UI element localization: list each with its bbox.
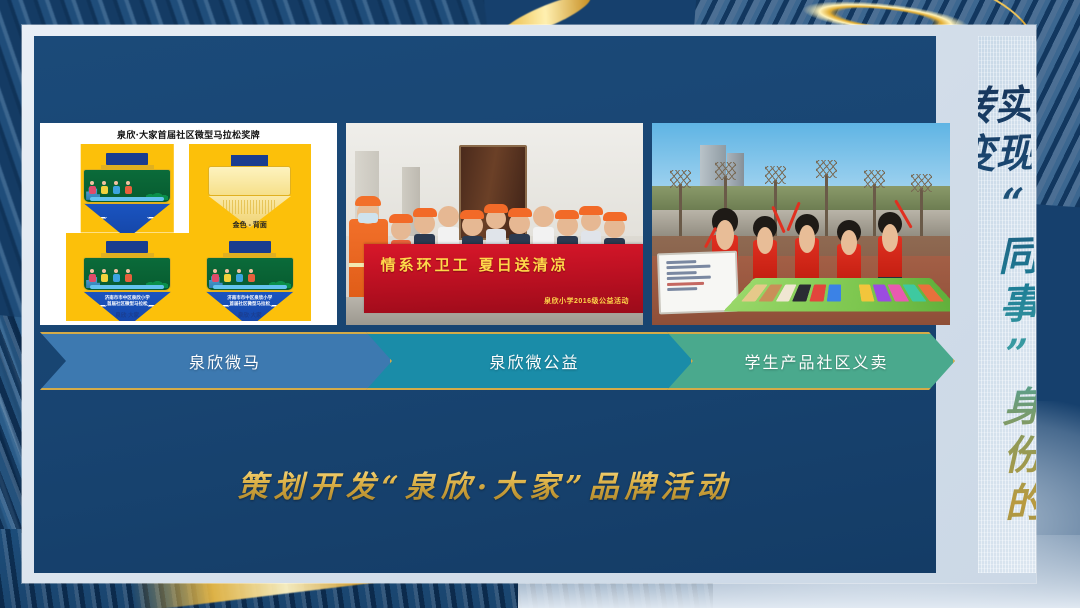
chevron-label-1: 泉欣微马	[40, 349, 392, 373]
charity-banner: 情系环卫工 夏日送清凉 泉欣小学2016级公益活动	[364, 244, 643, 313]
photo-medal-poster[interactable]: 泉欣·大家首届社区微型马拉松奖牌	[40, 123, 337, 325]
student	[878, 212, 902, 277]
medal-brand-right: 泉欣·大家	[189, 311, 312, 319]
chevron-label-2: 泉欣微公益	[358, 349, 693, 373]
vertical-heading-text: 实现“同事”身份的转变	[978, 83, 1036, 573]
chevron-item-2[interactable]: 泉欣微公益	[358, 332, 693, 390]
medal-gold-caption: 金色 - 背面	[189, 220, 312, 230]
medal-school-line-1: 济南市市中区泉欣小学	[105, 295, 150, 300]
photo-charity-group[interactable]: 情系环卫工 夏日送清凉 泉欣小学2016级公益活动	[346, 123, 643, 325]
vertical-heading-strip: 实现“同事”身份的转变	[978, 36, 1036, 573]
slide-headline: 策划开发“泉欣·大家”品牌活动	[34, 462, 936, 506]
photo-community-sale[interactable]	[652, 123, 950, 325]
medal-variant-gold-back: 金色 - 背面	[189, 144, 312, 233]
student	[753, 216, 777, 277]
medal-brand-left: 泉欣·大家	[66, 311, 189, 319]
handwritten-sign	[657, 251, 740, 314]
student	[795, 214, 819, 277]
medal-school-line-1-dup: 济南市市中区泉欣小学	[227, 295, 272, 300]
goods-display-mat	[724, 279, 950, 312]
photo-row: 泉欣·大家首届社区微型马拉松奖牌	[40, 123, 950, 325]
chevron-item-3[interactable]: 学生产品社区义卖	[660, 332, 955, 390]
process-chevron-bar: 学生产品社区义卖 泉欣微公益 泉欣微马	[40, 332, 955, 390]
medal-variant-branded-left: 济南市市中区泉欣小学 首届社区微型马拉松 泉欣·大家	[66, 233, 189, 322]
medal-variant-front-blank	[66, 144, 189, 233]
student	[837, 220, 861, 277]
medal-poster-title: 泉欣·大家首届社区微型马拉松奖牌	[40, 128, 337, 141]
chevron-label-3: 学生产品社区义卖	[660, 349, 955, 373]
medal-variant-branded-right: 济南市市中区泉欣小学 首届社区微型马拉松 泉欣·大家	[189, 233, 312, 322]
banner-sub-text: 泉欣小学2016级公益活动	[544, 296, 629, 306]
banner-main-text: 情系环卫工 夏日送清凉	[381, 254, 632, 275]
chevron-item-1[interactable]: 泉欣微马	[40, 332, 392, 390]
